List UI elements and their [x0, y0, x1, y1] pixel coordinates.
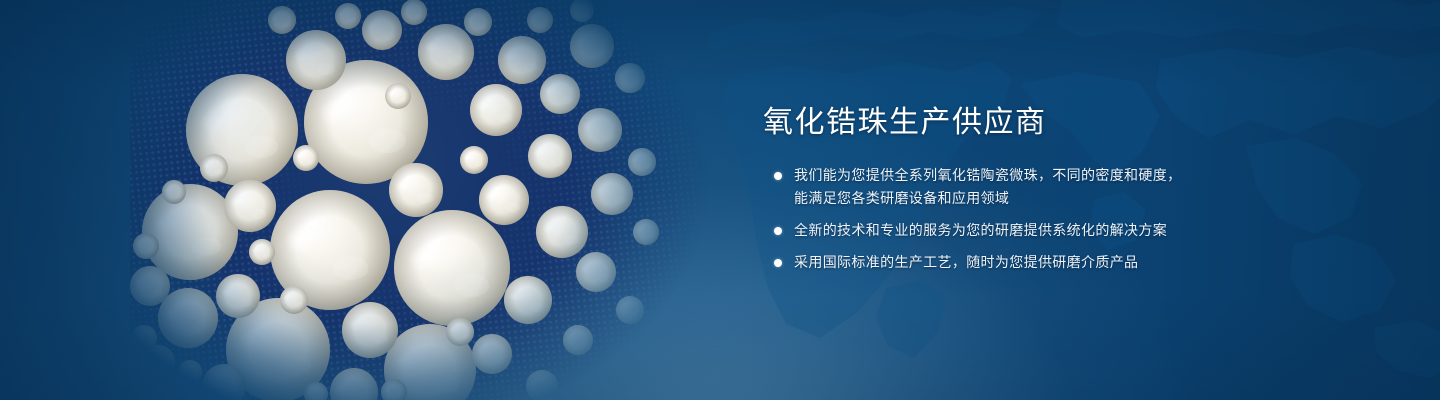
bullet-dot-icon [774, 172, 782, 180]
hero-banner: 氧化锆珠生产供应商 我们能为您提供全系列氧化锆陶瓷微珠，不同的密度和硬度， 能满… [0, 0, 1440, 400]
zirconia-beads-photo [130, 0, 710, 400]
list-item-line: 全新的技术和专业的服务为您的研磨提供系统化的解决方案 [794, 219, 1283, 242]
bullet-dot-icon [774, 259, 782, 267]
list-item-line: 能满足您各类研磨设备和应用领域 [794, 187, 1283, 210]
bullet-dot-icon [774, 227, 782, 235]
list-item: 全新的技术和专业的服务为您的研磨提供系统化的解决方案 [763, 219, 1283, 242]
banner-copy: 氧化锆珠生产供应商 我们能为您提供全系列氧化锆陶瓷微珠，不同的密度和硬度， 能满… [763, 106, 1283, 274]
list-item-line: 采用国际标准的生产工艺，随时为您提供研磨介质产品 [794, 251, 1283, 274]
list-item-line: 我们能为您提供全系列氧化锆陶瓷微珠，不同的密度和硬度， [794, 164, 1283, 187]
page-title: 氧化锆珠生产供应商 [763, 106, 1283, 140]
list-item: 采用国际标准的生产工艺，随时为您提供研磨介质产品 [763, 251, 1283, 274]
list-item: 我们能为您提供全系列氧化锆陶瓷微珠，不同的密度和硬度， 能满足您各类研磨设备和应… [763, 164, 1283, 210]
bead-cluster [130, 0, 710, 400]
feature-list: 我们能为您提供全系列氧化锆陶瓷微珠，不同的密度和硬度， 能满足您各类研磨设备和应… [763, 164, 1283, 274]
